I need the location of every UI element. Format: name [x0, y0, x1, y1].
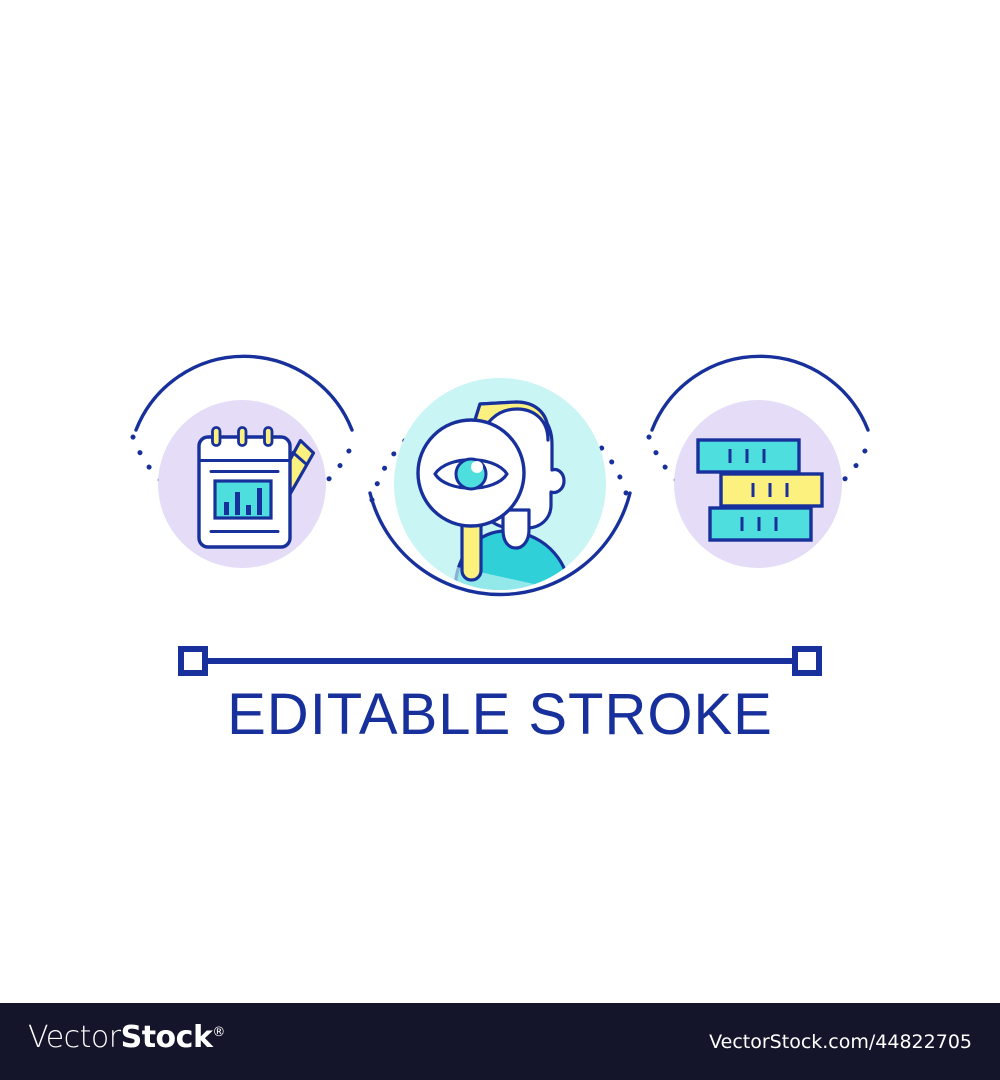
stacked-bar-2	[721, 474, 822, 506]
notepad-icon	[199, 428, 290, 548]
chart-bar-1	[224, 502, 229, 515]
chart-bar-4	[257, 488, 262, 515]
registered-trademark-icon: ®	[212, 1025, 225, 1040]
concept-group-observation	[370, 378, 630, 600]
chart-bar-2	[235, 492, 240, 515]
stacked-bar-1	[698, 440, 799, 472]
page-title: EDITABLE STROKE	[0, 686, 1000, 744]
stroke-ruler-handle-right[interactable]	[795, 649, 819, 673]
concept-group-notepad	[133, 356, 355, 568]
illustration-canvas: EDITABLE STROKE	[0, 0, 1000, 1003]
stroke-ruler	[181, 649, 819, 673]
chart-frame	[215, 481, 271, 518]
stacked-bar-3	[710, 508, 811, 540]
stroke-ruler-handle-left[interactable]	[181, 649, 205, 673]
concept-group-stacked-bars	[649, 356, 871, 568]
spiral-ring-2	[239, 428, 247, 446]
watermark-url: VectorStock.com/44822705	[709, 1033, 972, 1052]
chart-bar-3	[246, 505, 251, 515]
watermark-footer: VectorStock® VectorStock.com/44822705	[0, 1003, 1000, 1080]
spiral-ring-1	[213, 428, 221, 446]
vectorstock-logo: VectorStock®	[28, 1023, 225, 1053]
person-neck	[503, 510, 529, 548]
logo-text-light: Vector	[28, 1020, 121, 1055]
bar-chart-icon	[215, 481, 271, 518]
spiral-ring-3	[265, 428, 273, 446]
loop-concept-illustration	[0, 0, 1000, 1003]
eye-highlight	[471, 461, 483, 473]
logo-text-bold: Stock	[121, 1020, 213, 1055]
